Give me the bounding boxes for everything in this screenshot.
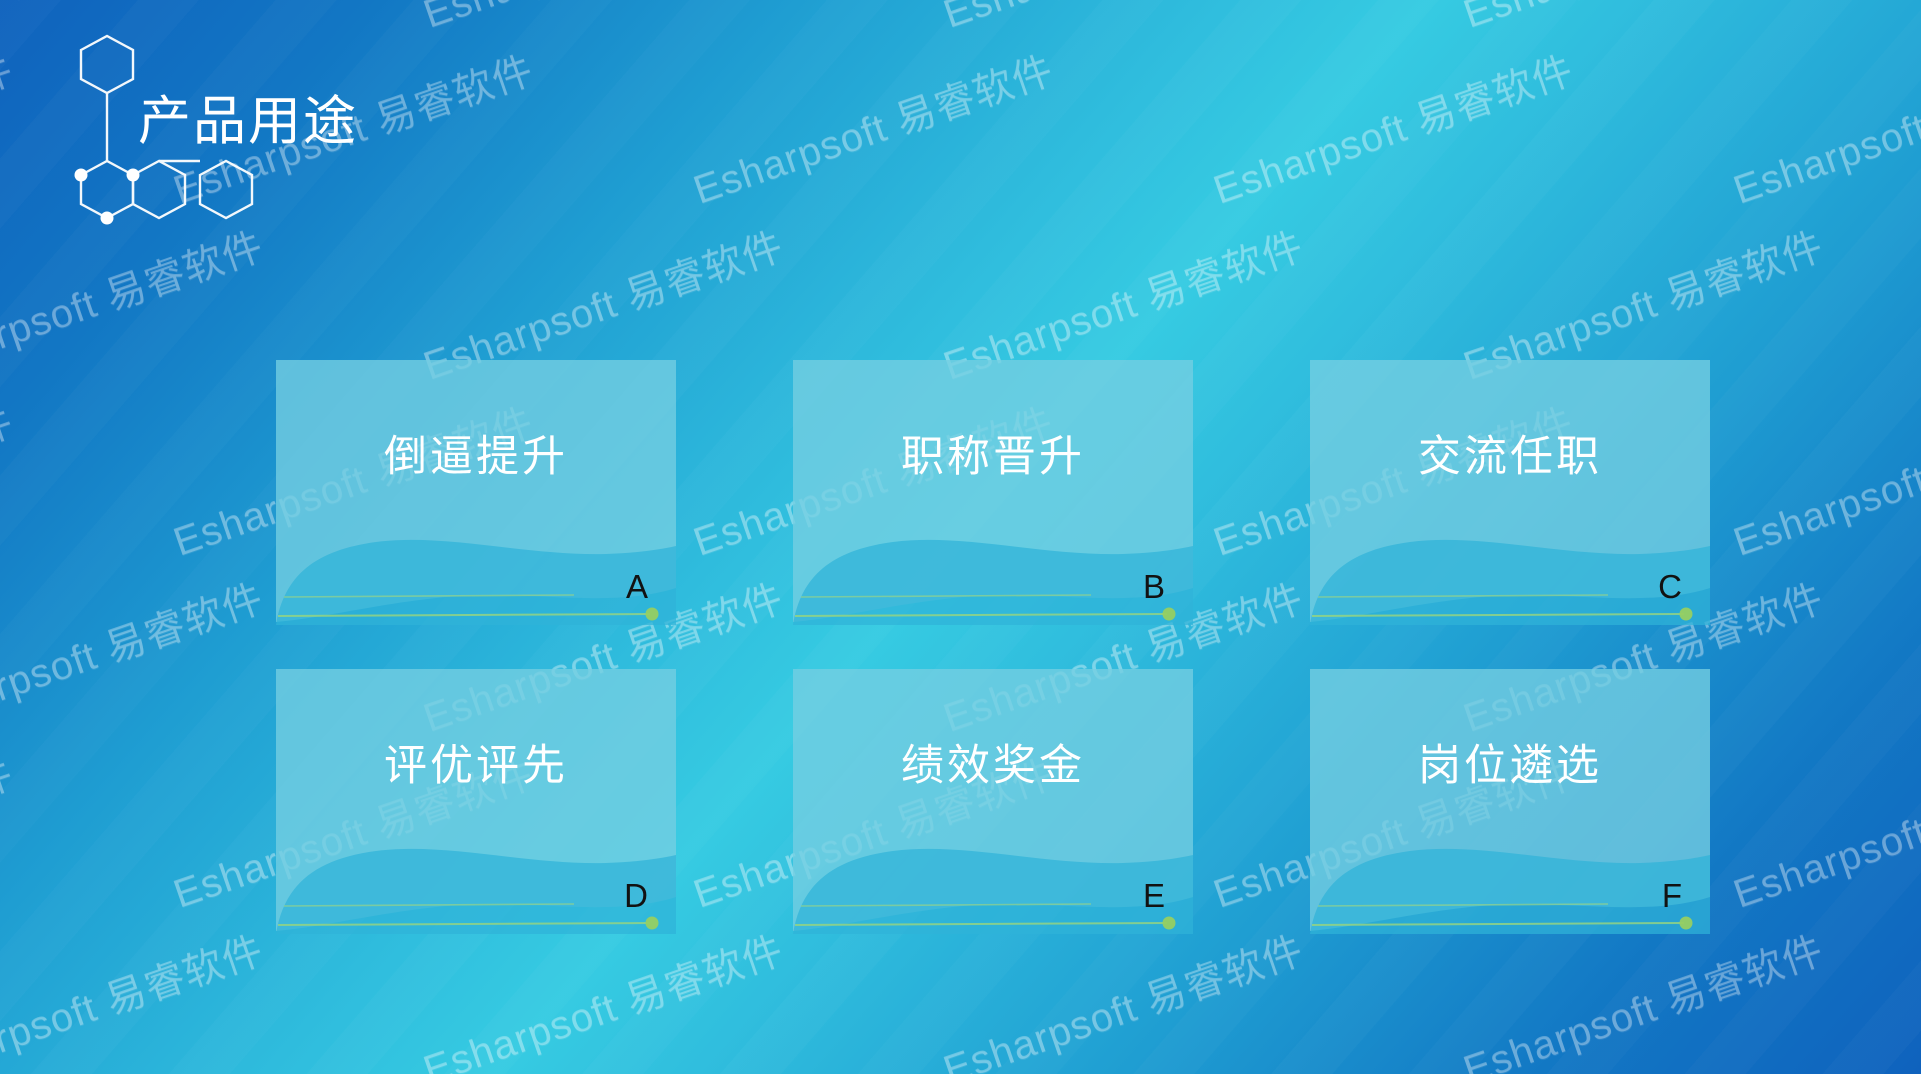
card-shape: [793, 360, 1193, 625]
page-title: 产品用途: [138, 95, 358, 148]
watermark-text: Esharpsoft 易睿软件: [1205, 37, 1581, 215]
use-case-card[interactable]: 评优评先D: [276, 669, 676, 934]
use-case-card[interactable]: 岗位遴选F: [1310, 669, 1710, 934]
use-case-card[interactable]: 交流任职C: [1310, 360, 1710, 625]
watermark-text: Esharpsoft 易睿软件: [0, 917, 270, 1074]
card-grid: 倒逼提升A职称晋升B交流任职C评优评先D绩效奖金E岗位遴选F: [276, 360, 1716, 934]
watermark-text: Esharpsoft 易睿软件: [935, 917, 1311, 1074]
watermark-text: Esharpsoft 易睿软件: [1725, 741, 1921, 919]
card-shape: [276, 669, 676, 934]
slide-canvas: Esharpsoft 易睿软件Esharpsoft 易睿软件Esharpsoft…: [0, 0, 1921, 1074]
card-shape: [1310, 360, 1710, 625]
card-shape: [793, 669, 1193, 934]
watermark-text: Esharpsoft 易睿软件: [935, 0, 1311, 39]
watermark-text: Esharpsoft 易睿软件: [0, 741, 20, 919]
card-shape: [276, 360, 676, 625]
use-case-card[interactable]: 绩效奖金E: [793, 669, 1193, 934]
use-case-card[interactable]: 倒逼提升A: [276, 360, 676, 625]
watermark-text: Esharpsoft 易睿软件: [0, 389, 20, 567]
use-case-card[interactable]: 职称晋升B: [793, 360, 1193, 625]
watermark-text: Esharpsoft 易睿软件: [0, 565, 270, 743]
watermark-text: Esharpsoft 易睿软件: [1455, 917, 1831, 1074]
slide-header: 产品用途: [0, 0, 660, 280]
watermark-text: Esharpsoft 易睿软件: [1725, 37, 1921, 215]
watermark-text: Esharpsoft 易睿软件: [1455, 0, 1831, 39]
card-shape: [1310, 669, 1710, 934]
watermark-text: Esharpsoft 易睿软件: [415, 917, 791, 1074]
watermark-text: Esharpsoft 易睿软件: [1725, 389, 1921, 567]
watermark-text: Esharpsoft 易睿软件: [685, 37, 1061, 215]
